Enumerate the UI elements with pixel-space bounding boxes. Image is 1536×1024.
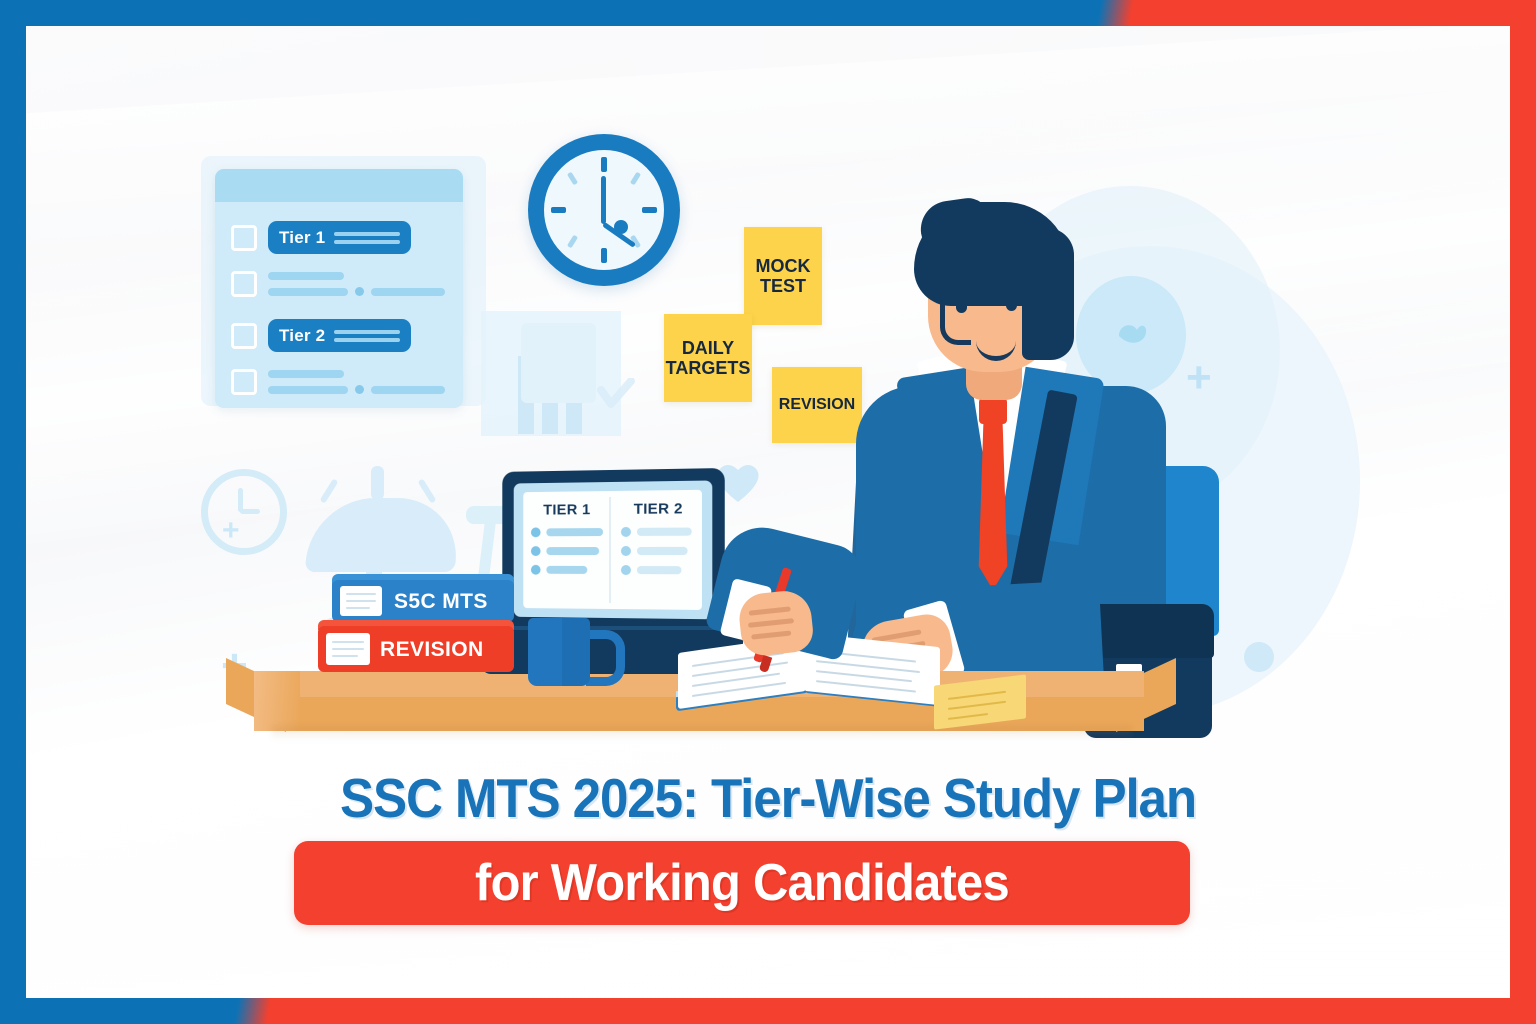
sticky-daily-line1: DAILY (682, 338, 734, 358)
background-lamp-knob (371, 466, 384, 500)
pill-placeholder-lines (334, 330, 400, 342)
checklist-card-header (215, 169, 463, 202)
poster-inner-canvas: + + + Tier 1 (26, 26, 1510, 998)
dot-decoration (1244, 642, 1274, 672)
poster-canvas: + + + Tier 1 (0, 0, 1536, 1024)
checkbox-icon[interactable] (231, 225, 257, 251)
checkbox-icon[interactable] (231, 323, 257, 349)
headline-group: SSC MTS 2025: Tier-Wise Study Plan (26, 766, 1510, 830)
hair-tuft (917, 195, 993, 250)
book-pages-icon (340, 586, 382, 616)
checklist-label-tier2: Tier 2 (279, 326, 325, 346)
eye-right (1006, 296, 1017, 311)
frame-left-band (0, 0, 26, 1024)
sticky-mock-line2: TEST (760, 276, 806, 296)
checklist-pill-tier2[interactable]: Tier 2 (268, 319, 411, 352)
checklist-detail-lines (268, 370, 445, 394)
plus-icon: + (222, 516, 240, 546)
desk-bevel (254, 671, 300, 731)
screen-tier1-title: TIER 1 (525, 501, 609, 519)
sticky-note-mock-test[interactable]: MOCKTEST (744, 227, 822, 325)
desk-shadow (272, 726, 1132, 740)
frame-right-band (1510, 0, 1536, 1024)
nose (940, 304, 971, 345)
screen-column-tier2: TIER 2 (615, 500, 702, 575)
pill-placeholder-lines (334, 232, 400, 244)
clock-center-hub (614, 220, 628, 234)
background-lamp-shade (305, 498, 461, 572)
headline-primary: SSC MTS 2025: Tier-Wise Study Plan (78, 766, 1458, 830)
checklist-row-detail-2[interactable] (231, 369, 445, 395)
laptop-screen-content: TIER 1 TIER 2 (523, 490, 702, 610)
left-hand (737, 588, 815, 657)
checklist-row-tier2[interactable]: Tier 2 (231, 319, 411, 352)
screen-divider (609, 497, 611, 603)
screen-tier2-title: TIER 2 (615, 500, 702, 518)
sticky-mock-line1: MOCK (756, 256, 811, 276)
book-title-revision: REVISION (380, 638, 484, 662)
clock-minute-hand (601, 176, 606, 224)
headline-secondary: for Working Candidates (475, 853, 1009, 913)
mug-shading (562, 618, 590, 686)
screen-column-tier1: TIER 1 (525, 501, 609, 575)
wall-clock-icon (528, 134, 680, 286)
sticky-note-daily-targets[interactable]: DAILYTARGETS (664, 314, 752, 402)
background-board (521, 323, 596, 403)
checkbox-icon[interactable] (231, 369, 257, 395)
checklist-pill-tier1[interactable]: Tier 1 (268, 221, 411, 254)
clock-face (544, 150, 664, 270)
headline-banner: for Working Candidates (294, 841, 1190, 925)
book-pages-icon (326, 633, 370, 665)
checklist-detail-lines (268, 272, 445, 296)
mug-handle (586, 630, 625, 686)
book-revision[interactable]: REVISION (318, 626, 514, 672)
book-title-ssc-mts: S5C MTS (394, 590, 488, 614)
sticky-daily-line2: TARGETS (666, 358, 751, 378)
book-ssc-mts[interactable]: S5C MTS (332, 580, 514, 622)
checklist-row-detail-1[interactable] (231, 271, 445, 297)
laptop-screen-bezel: TIER 1 TIER 2 (514, 480, 713, 619)
frame-bottom-band (0, 998, 1536, 1024)
tier-checklist-card[interactable]: Tier 1 Tier 2 (215, 169, 463, 408)
frame-top-band (0, 0, 1536, 26)
checkbox-icon[interactable] (231, 271, 257, 297)
checklist-row-tier1[interactable]: Tier 1 (231, 221, 411, 254)
check-icon (596, 378, 636, 412)
checklist-label-tier1: Tier 1 (279, 228, 325, 248)
background-clock-icon (201, 469, 287, 555)
